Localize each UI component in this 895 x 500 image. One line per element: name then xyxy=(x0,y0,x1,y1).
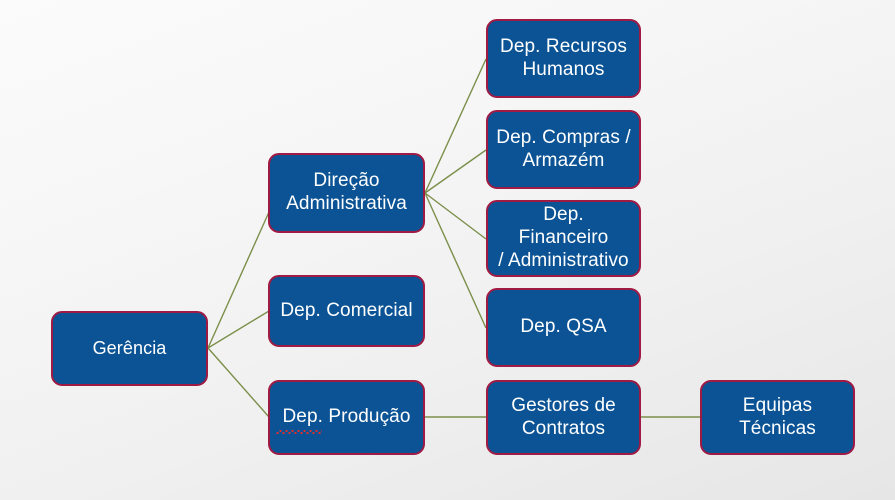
node-label-dep-recursos-humanos: Dep. Recursos Humanos xyxy=(500,36,627,82)
node-dep-financeiro-administrativo[interactable]: Dep. Financeiro / Administrativo xyxy=(486,200,641,277)
connector-direcao-to-compras xyxy=(425,150,486,193)
node-label-gestores-de-contratos: Gestores de Contratos xyxy=(511,395,616,441)
node-dep-comercial[interactable]: Dep. Comercial xyxy=(268,275,425,347)
node-label-dep-financeiro-administrativo: Dep. Financeiro / Administrativo xyxy=(496,204,631,272)
connector-gerencia-to-producao xyxy=(208,348,269,417)
connector-direcao-to-financeiro xyxy=(425,193,486,239)
connector-gerencia-to-direcao xyxy=(208,212,269,348)
node-gerencia[interactable]: Gerência xyxy=(51,311,208,386)
connector-direcao-to-qsa xyxy=(425,193,486,328)
node-dep-recursos-humanos[interactable]: Dep. Recursos Humanos xyxy=(486,19,641,98)
node-label-dep-qsa: Dep. QSA xyxy=(520,316,606,339)
node-label-direcao-administrativa: Direção Administrativa xyxy=(286,170,407,216)
node-label-dep-producao: Dep. Produção xyxy=(282,406,410,429)
connector-direcao-to-recursos-humanos xyxy=(425,59,486,193)
node-label-dep-comercial: Dep. Comercial xyxy=(280,300,412,323)
node-label-dep-compras-armazem: Dep. Compras / Armazém xyxy=(496,127,630,173)
node-label-equipas-tecnicas: Equipas Técnicas xyxy=(739,395,816,441)
organizational-chart: GerênciaDireção AdministrativaDep. Comer… xyxy=(0,0,895,500)
node-dep-compras-armazem[interactable]: Dep. Compras / Armazém xyxy=(486,110,641,189)
node-equipas-tecnicas[interactable]: Equipas Técnicas xyxy=(700,380,855,455)
node-label-gerencia: Gerência xyxy=(93,338,167,360)
node-dep-producao[interactable]: Dep. Produção xyxy=(268,380,425,455)
node-dep-qsa[interactable]: Dep. QSA xyxy=(486,288,641,367)
node-direcao-administrativa[interactable]: Direção Administrativa xyxy=(268,153,425,233)
connector-gerencia-to-comercial xyxy=(208,311,269,348)
node-gestores-de-contratos[interactable]: Gestores de Contratos xyxy=(486,380,641,455)
